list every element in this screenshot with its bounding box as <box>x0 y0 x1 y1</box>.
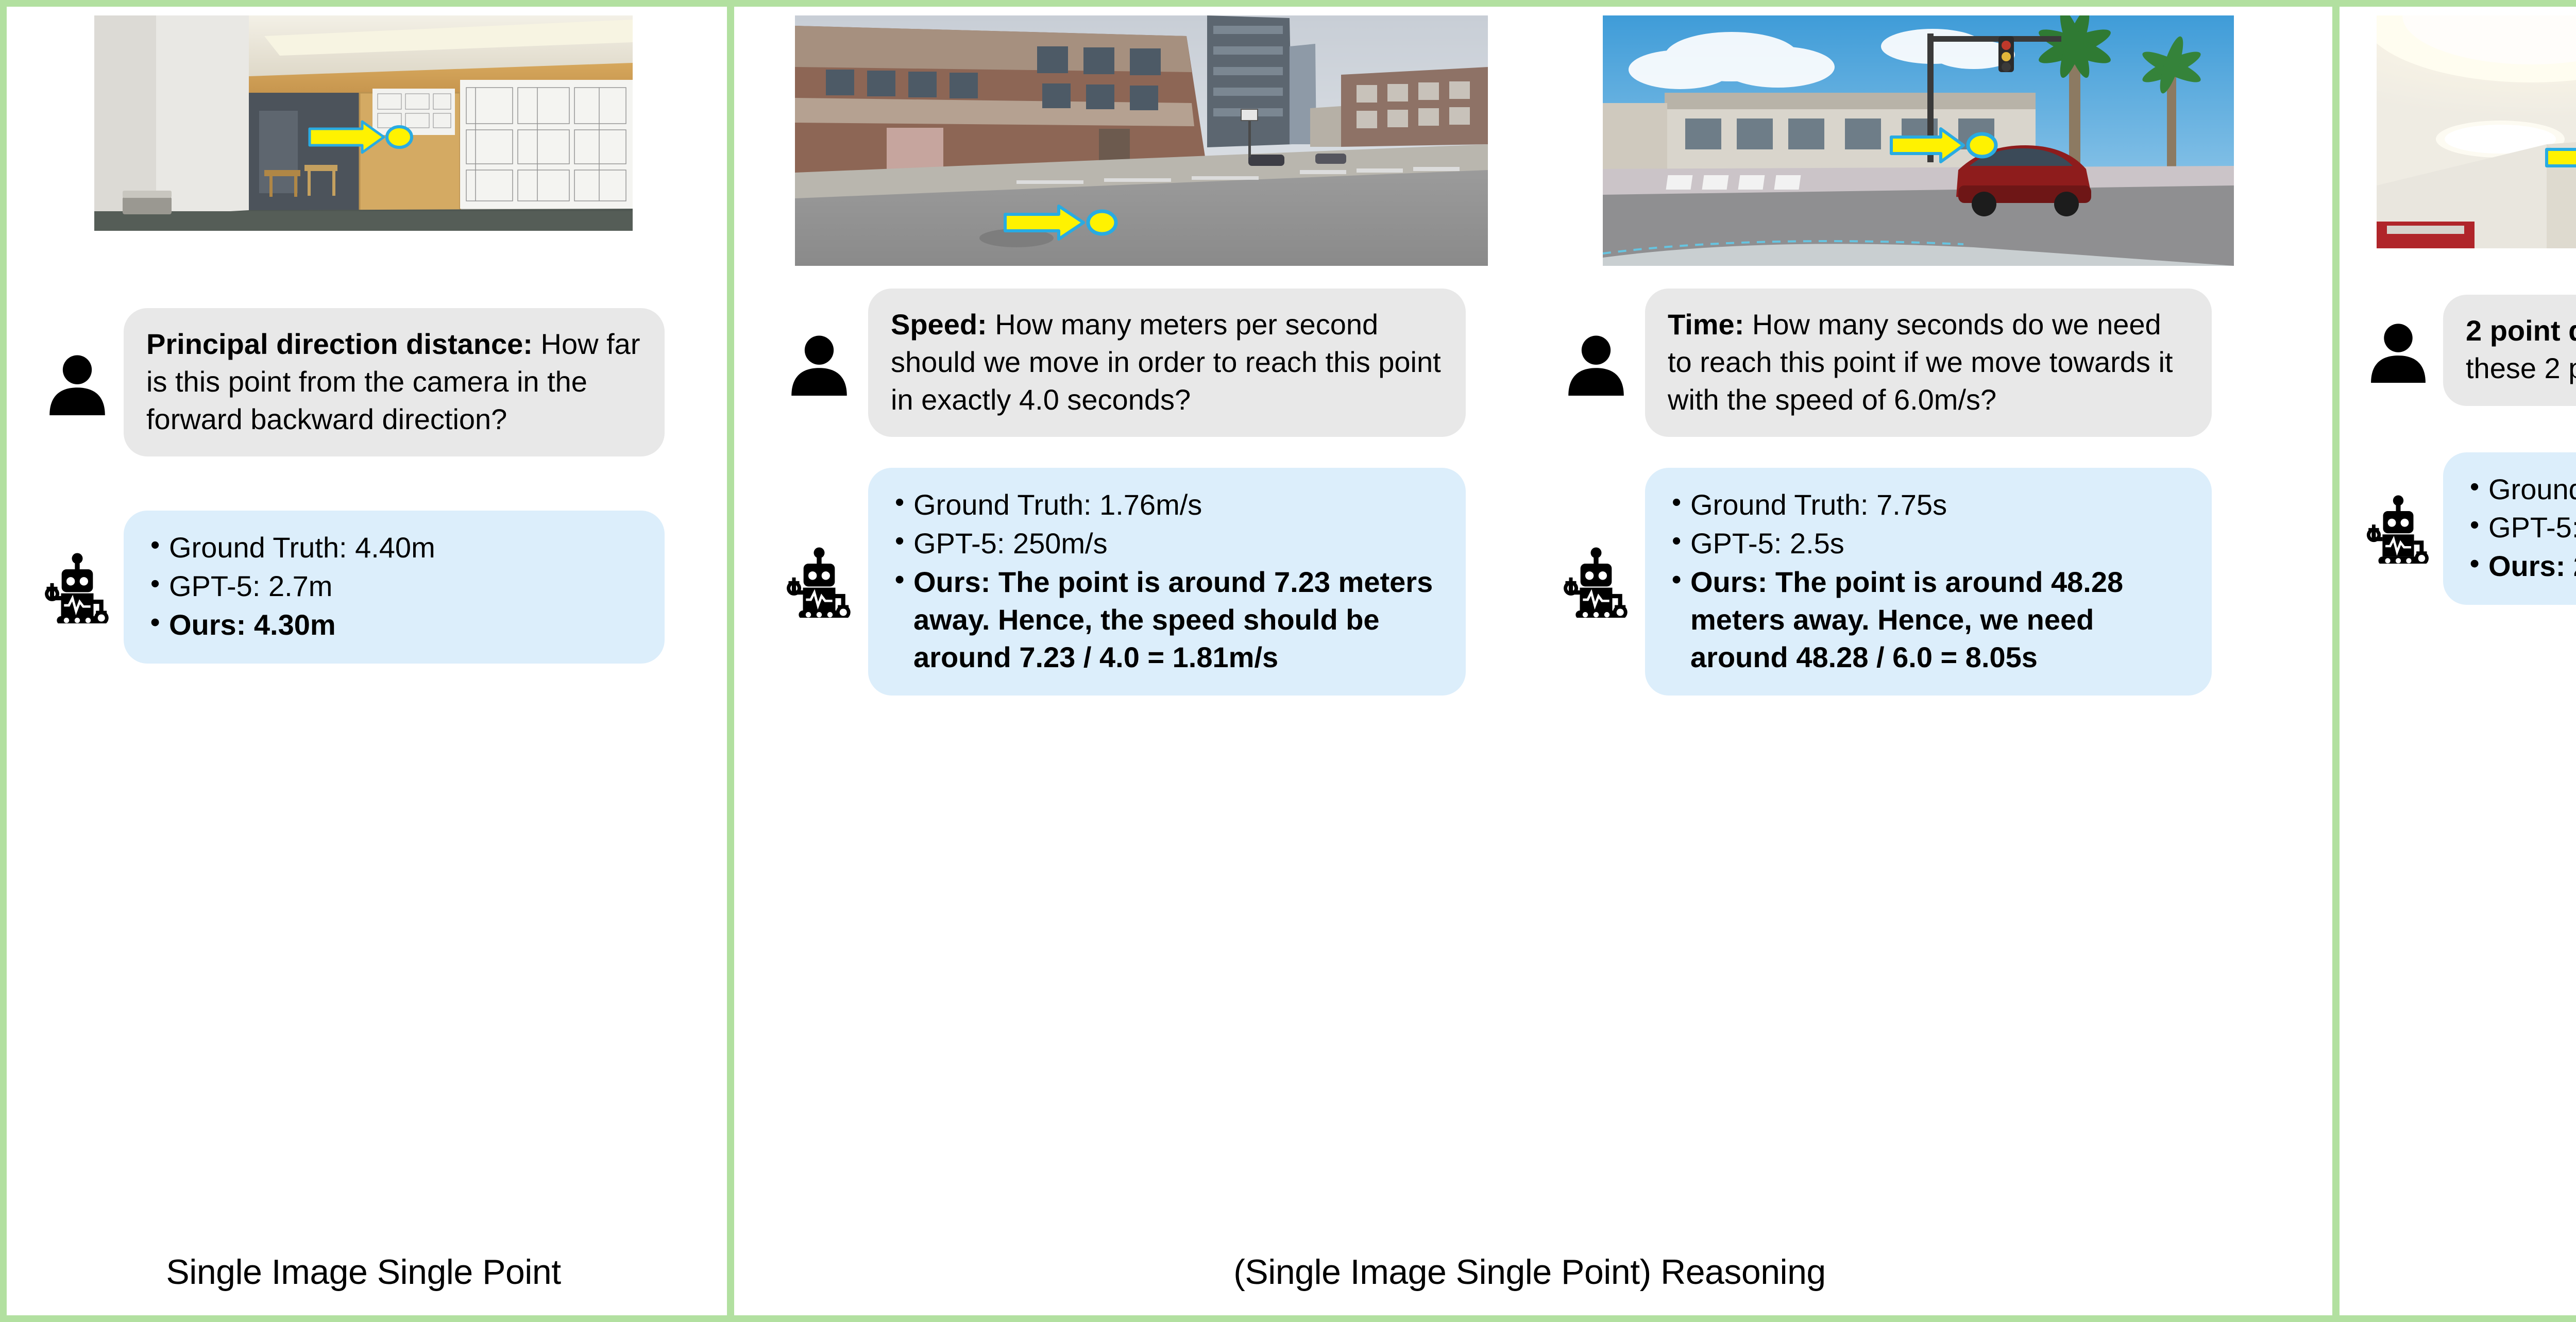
frame-border-left <box>0 0 7 1322</box>
person-icon <box>44 349 110 415</box>
robot-icon <box>2363 494 2433 564</box>
assistant-avatar <box>1547 546 1645 618</box>
user-avatar <box>2353 318 2443 383</box>
chat-row-question: Time: How many seconds do we need to rea… <box>1547 289 2289 437</box>
list-item: Ours: The point is around 7.23 meters aw… <box>891 564 1443 676</box>
person-icon <box>1563 330 1629 396</box>
list-item: GPT-5: 1.26m <box>2466 509 2576 547</box>
assistant-avatar <box>770 546 868 618</box>
panel-divider-2 <box>2332 0 2340 1322</box>
frame-border-bottom <box>0 1315 2576 1322</box>
chat-row-question: Principal direction distance: How far is… <box>31 308 696 456</box>
user-avatar <box>1547 330 1645 396</box>
user-avatar <box>770 330 868 396</box>
robot-icon <box>41 551 113 623</box>
list-item: GPT-5: 2.5s <box>1668 525 2189 563</box>
question-bubble: Time: How many seconds do we need to rea… <box>1645 289 2212 437</box>
question-text: How many seconds do we need to reach thi… <box>1668 308 2173 416</box>
list-item: Ours: 2.35m <box>2466 548 2576 585</box>
photo-indoor-corridor-with-floorplans <box>94 15 633 231</box>
panel-caption: Multi-Point <box>2332 1252 2576 1292</box>
list-item: Ground Truth: 2.51m <box>2466 471 2576 509</box>
person-icon <box>786 330 852 396</box>
answer-list: Ground Truth: 1.76m/s GPT-5: 250m/s Ours… <box>891 486 1443 676</box>
chat-row-question: 2 point distance: How far are these 2 po… <box>2353 295 2576 406</box>
list-item: Ground Truth: 4.40m <box>146 529 642 567</box>
answer-list: Ground Truth: 2.51m GPT-5: 1.26m Ours: 2… <box>2466 471 2576 585</box>
answer-list: Ground Truth: 4.40m GPT-5: 2.7m Ours: 4.… <box>146 529 642 643</box>
panel-single-image-single-point-reasoning: Speed: How many meters per second should… <box>727 0 2332 1322</box>
question-label: Speed: <box>891 308 987 341</box>
list-item: Ground Truth: 7.75s <box>1668 486 2189 524</box>
robot-icon <box>783 546 855 618</box>
figure-root: Principal direction distance: How far is… <box>0 0 2576 1322</box>
panel-caption: Single Image Single Point <box>0 1252 727 1292</box>
chat-row-answer: Ground Truth: 1.76m/s GPT-5: 250m/s Ours… <box>770 468 1512 696</box>
list-item: GPT-5: 250m/s <box>891 525 1443 563</box>
panel-caption: (Single Image Single Point) Reasoning <box>727 1252 2332 1292</box>
chat-row-question: Speed: How many meters per second should… <box>770 289 1512 437</box>
panel-multi-point: 2 point distance: How far are these 2 po… <box>2332 0 2576 1322</box>
subpanel-time: Time: How many seconds do we need to rea… <box>1530 11 2307 1322</box>
question-bubble: 2 point distance: How far are these 2 po… <box>2443 295 2576 406</box>
question-bubble: Speed: How many meters per second should… <box>868 289 1466 437</box>
answer-bubble: Ground Truth: 7.75s GPT-5: 2.5s Ours: Th… <box>1645 468 2212 696</box>
question-label: Time: <box>1668 308 1744 341</box>
person-icon <box>2366 318 2431 383</box>
answer-bubble: Ground Truth: 2.51m GPT-5: 1.26m Ours: 2… <box>2443 452 2576 605</box>
list-item: Ours: 4.30m <box>146 606 642 644</box>
panel-single-image-single-point: Principal direction distance: How far is… <box>0 0 727 1322</box>
chat-row-answer: Ground Truth: 4.40m GPT-5: 2.7m Ours: 4.… <box>31 511 696 663</box>
panel-divider-1 <box>727 0 734 1322</box>
chat-row-answer: Ground Truth: 7.75s GPT-5: 2.5s Ours: Th… <box>1547 468 2289 696</box>
frame-border-top <box>0 0 2576 7</box>
list-item: Ground Truth: 1.76m/s <box>891 486 1443 524</box>
list-item: Ours: The point is around 48.28 meters a… <box>1668 564 2189 676</box>
user-avatar <box>31 349 124 415</box>
robot-icon <box>1560 546 1632 618</box>
list-item: GPT-5: 2.7m <box>146 568 642 605</box>
assistant-avatar <box>2353 494 2443 564</box>
photo-street-with-red-car-and-traffic-light <box>1603 15 2234 266</box>
answer-bubble: Ground Truth: 1.76m/s GPT-5: 250m/s Ours… <box>868 468 1466 696</box>
chat-row-answer: Ground Truth: 2.51m GPT-5: 1.26m Ours: 2… <box>2353 452 2576 605</box>
question-label: 2 point distance: <box>2466 314 2576 347</box>
photo-office-ceiling-and-cubicle <box>2377 15 2576 248</box>
answer-bubble: Ground Truth: 4.40m GPT-5: 2.7m Ours: 4.… <box>124 511 665 663</box>
question-label: Principal direction distance: <box>146 328 533 360</box>
question-bubble: Principal direction distance: How far is… <box>124 308 665 456</box>
answer-list: Ground Truth: 7.75s GPT-5: 2.5s Ours: Th… <box>1668 486 2189 676</box>
photo-urban-street-brick-building <box>795 15 1488 266</box>
assistant-avatar <box>31 551 124 623</box>
subpanel-speed: Speed: How many meters per second should… <box>753 11 1530 1322</box>
